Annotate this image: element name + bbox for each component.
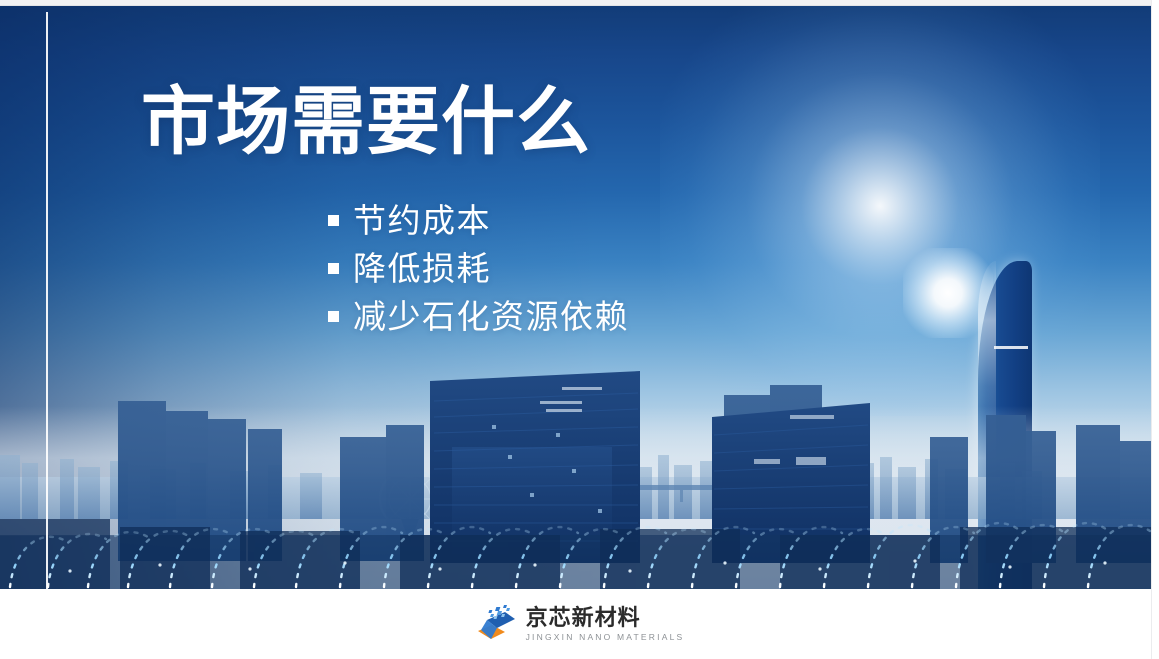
logo-wordmark: 京芯新材料 JINGXIN NANO MATERIALS bbox=[526, 606, 685, 642]
slide-footer: 京芯新材料 JINGXIN NANO MATERIALS bbox=[0, 589, 1159, 659]
logo-name-en: JINGXIN NANO MATERIALS bbox=[526, 632, 685, 642]
list-item: 节约成本 bbox=[328, 196, 629, 244]
vertical-accent-rule bbox=[46, 12, 48, 589]
square-bullet-icon bbox=[328, 263, 339, 274]
bullet-label: 节约成本 bbox=[353, 204, 491, 237]
slide-right-margin bbox=[1151, 0, 1159, 659]
list-item: 降低损耗 bbox=[328, 244, 629, 292]
square-bullet-icon bbox=[328, 215, 339, 226]
slide-title: 市场需要什么 bbox=[141, 82, 591, 162]
skyscraper-light-band bbox=[994, 346, 1028, 349]
presentation-slide: 市场需要什么 节约成本 降低损耗 减少石化资源依赖 bbox=[0, 0, 1159, 659]
list-item: 减少石化资源依赖 bbox=[328, 292, 629, 340]
logo-name-cn: 京芯新材料 bbox=[526, 606, 685, 629]
pixel-parallelogram-logo-icon bbox=[475, 605, 517, 643]
bullet-label: 减少石化资源依赖 bbox=[353, 300, 629, 333]
slide-background-image: 市场需要什么 节约成本 降低损耗 减少石化资源依赖 bbox=[0, 6, 1151, 589]
city-skyline bbox=[0, 359, 1151, 589]
slide-bullet-list: 节约成本 降低损耗 减少石化资源依赖 bbox=[328, 196, 629, 340]
square-bullet-icon bbox=[328, 311, 339, 322]
bullet-label: 降低损耗 bbox=[353, 252, 491, 285]
company-logo: 京芯新材料 JINGXIN NANO MATERIALS bbox=[475, 605, 685, 643]
